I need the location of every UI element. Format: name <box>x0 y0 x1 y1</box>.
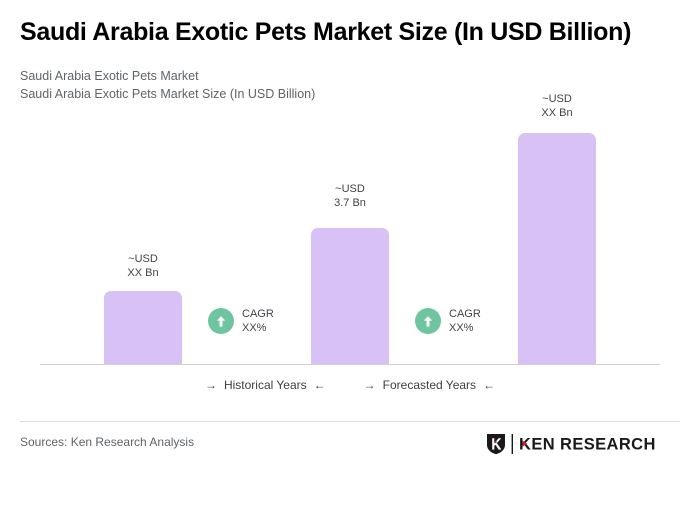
logo-wordmark: KEN RESEARCH <box>519 434 667 459</box>
cagr-annotation: CAGR XX% <box>415 307 481 335</box>
period-label-historical: → Historical Years ← <box>205 378 326 392</box>
period-label-forecasted: → Forecasted Years ← <box>364 378 495 392</box>
bar-data-label: ~USD XX Bn <box>518 92 596 120</box>
bar-chart-plot: ~USD XX Bn ~USD 3.7 Bn ~USD XX Bn CAGR X… <box>0 0 700 400</box>
bar-label-line-2: 3.7 Bn <box>311 196 389 210</box>
arrow-left-icon: ← <box>483 379 495 391</box>
arrow-up-icon <box>208 308 234 334</box>
x-axis-line <box>40 364 660 365</box>
bar-label-line-1: ~USD <box>311 182 389 196</box>
cagr-text: CAGR XX% <box>242 307 274 335</box>
period-label-row: → Historical Years ← → Forecasted Years … <box>40 378 660 392</box>
period-label-text: Forecasted Years <box>383 378 476 392</box>
bar[interactable] <box>518 133 596 364</box>
svg-text:KEN RESEARCH: KEN RESEARCH <box>519 436 656 454</box>
bar-label-line-2: XX Bn <box>104 266 182 280</box>
arrow-right-icon: → <box>364 379 376 391</box>
logo-divider-bar <box>511 434 514 459</box>
sources-text: Sources: Ken Research Analysis <box>20 435 194 449</box>
period-label-text: Historical Years <box>224 378 307 392</box>
cagr-value: XX% <box>449 321 481 335</box>
bar-data-label: ~USD 3.7 Bn <box>311 182 389 210</box>
cagr-text: CAGR XX% <box>449 307 481 335</box>
footer-divider <box>20 421 680 422</box>
bar[interactable] <box>311 228 389 364</box>
arrow-right-icon: → <box>205 379 217 391</box>
bar-label-line-1: ~USD <box>104 252 182 266</box>
cagr-annotation: CAGR XX% <box>208 307 274 335</box>
bar-data-label: ~USD XX Bn <box>104 252 182 280</box>
arrow-left-icon: ← <box>314 379 326 391</box>
shield-logo-icon <box>486 433 506 460</box>
bar[interactable] <box>104 291 182 364</box>
ken-research-logo: KEN RESEARCH <box>486 433 667 460</box>
arrow-up-icon <box>415 308 441 334</box>
cagr-value: XX% <box>242 321 274 335</box>
cagr-label: CAGR <box>449 307 481 321</box>
bar-label-line-2: XX Bn <box>518 106 596 120</box>
bar-label-line-1: ~USD <box>518 92 596 106</box>
cagr-label: CAGR <box>242 307 274 321</box>
chart-page: Saudi Arabia Exotic Pets Market Size (In… <box>0 0 700 520</box>
